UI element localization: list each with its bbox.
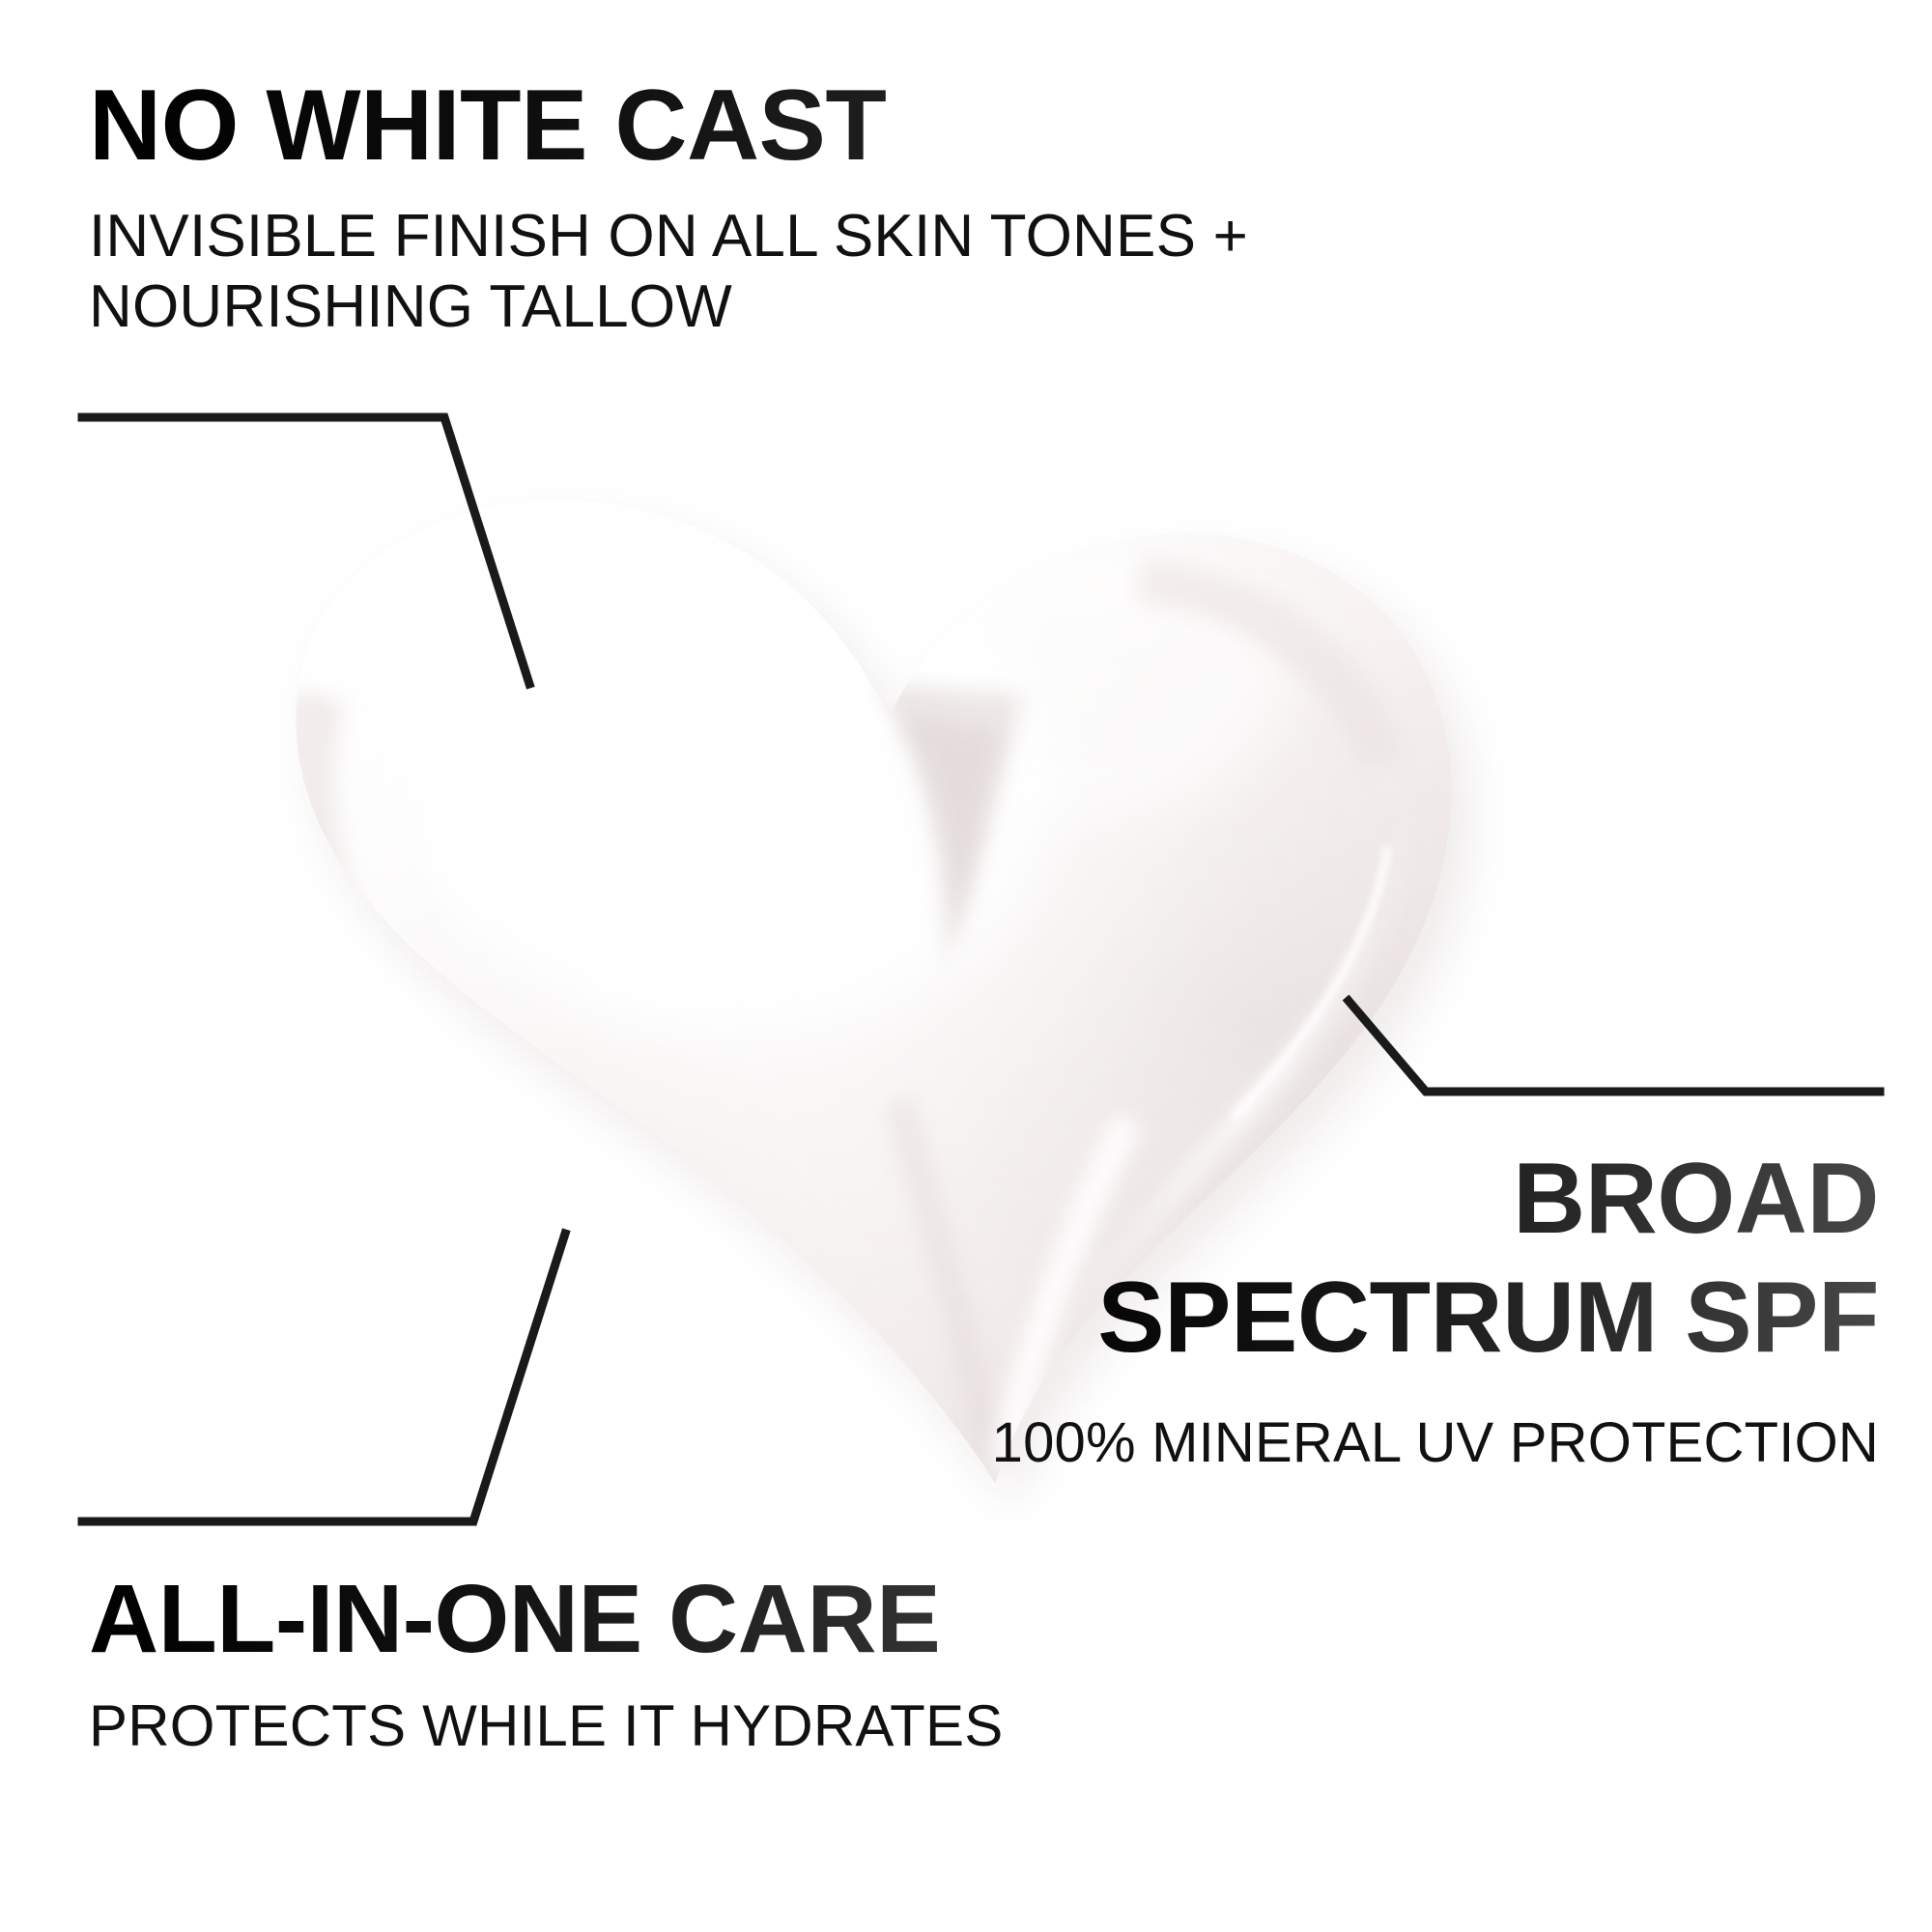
infographic-canvas: NO WHITE CAST INVISIBLE FINISH ON ALL SK… <box>0 0 1932 1932</box>
leader-line-all-in-one-care <box>82 1234 565 1521</box>
callout-headline-all-in-one-care: ALL-IN-ONE CARE <box>89 1571 1171 1667</box>
callout-headline-broad-spectrum-spf: BROAD SPECTRUM SPF <box>971 1140 1879 1377</box>
callout-all-in-one-care: ALL-IN-ONE CARE PROTECTS WHILE IT HYDRAT… <box>89 1571 1171 1761</box>
leader-line-broad-spectrum <box>1349 1001 1880 1092</box>
callout-subline-broad-spectrum-spf: 100% MINERAL UV PROTECTION <box>971 1409 1879 1477</box>
leader-line-no-white-cast <box>82 417 529 684</box>
callout-headline-no-white-cast: NO WHITE CAST <box>89 75 1596 176</box>
callout-subline-no-white-cast: INVISIBLE FINISH ON ALL SKIN TONES + NOU… <box>89 201 1596 342</box>
callout-broad-spectrum-spf: BROAD SPECTRUM SPF 100% MINERAL UV PROTE… <box>971 1140 1879 1477</box>
callout-subline-all-in-one-care: PROTECTS WHILE IT HYDRATES <box>89 1692 1171 1761</box>
callout-no-white-cast: NO WHITE CAST INVISIBLE FINISH ON ALL SK… <box>89 75 1596 342</box>
